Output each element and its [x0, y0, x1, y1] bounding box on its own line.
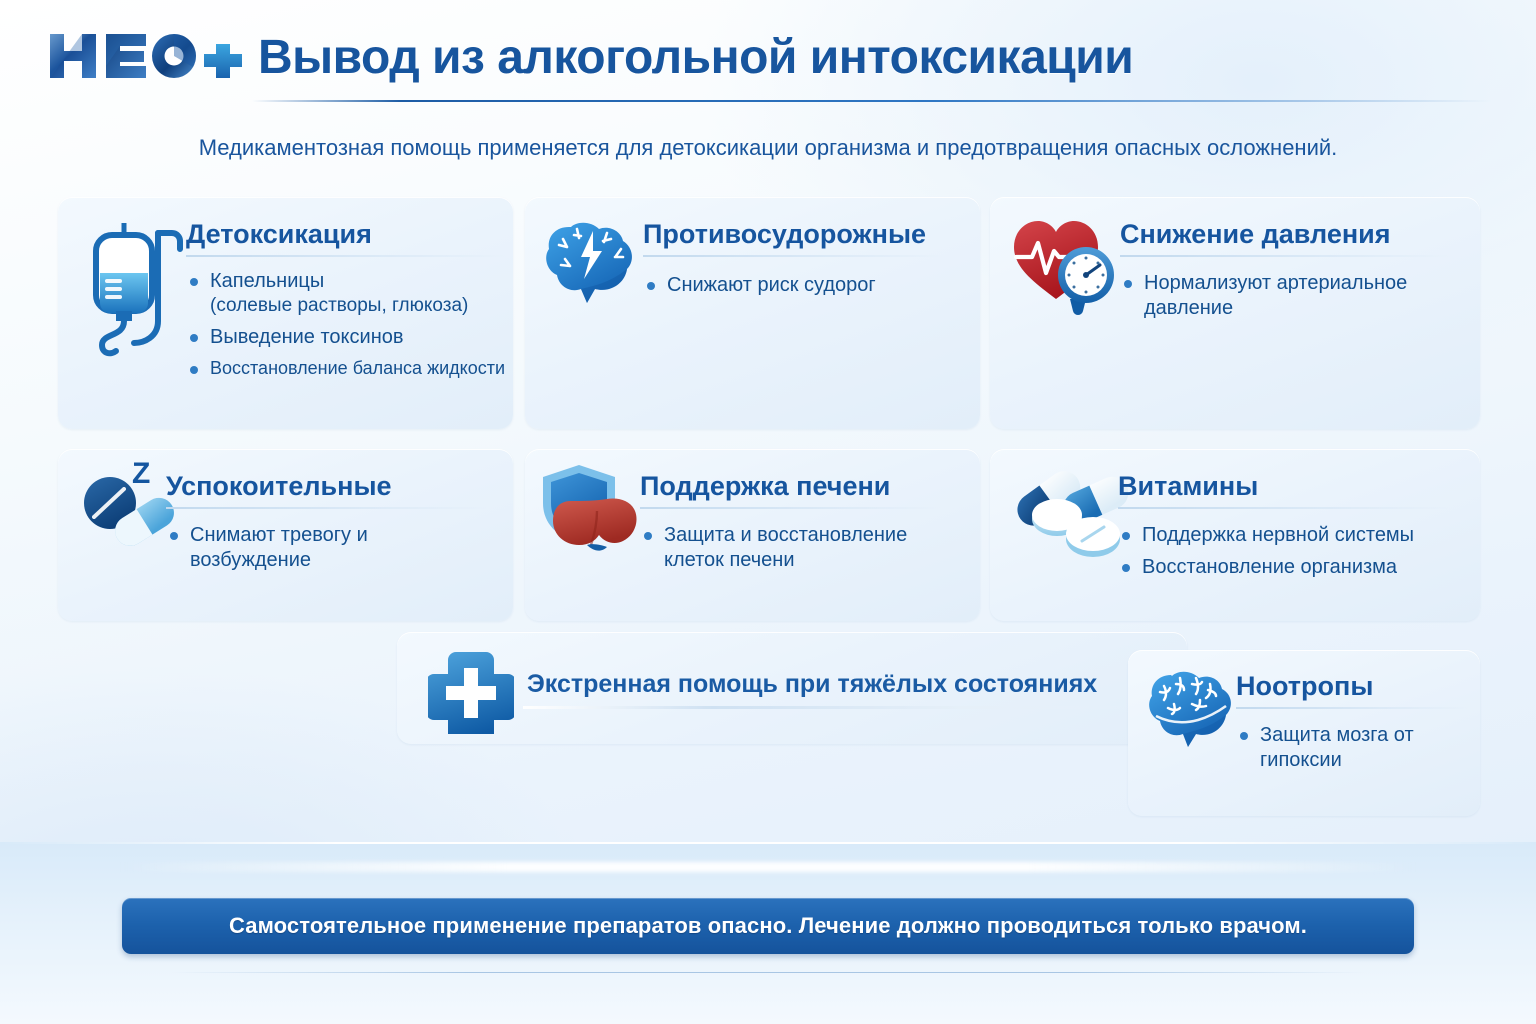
brain-lightning-icon — [543, 215, 639, 312]
shield-liver-icon — [539, 461, 649, 570]
card-bullet-list: Капельницы (солевые растворы, глюкоза) В… — [186, 269, 506, 379]
card-title-divider — [166, 507, 486, 509]
card-bullet-list: Защита мозга от гипоксии — [1236, 723, 1468, 773]
card-title: Ноотропы — [1236, 672, 1468, 700]
card-title-divider — [186, 255, 506, 257]
bullet-text: Капельницы — [210, 270, 324, 292]
card-anticonvulsants-body: Противосудорожные Снижают риск судорог — [643, 220, 953, 305]
card-bullet-list: Защита и восстановление клеток печени — [640, 523, 950, 573]
warning-text: Самостоятельное применение препаратов оп… — [229, 913, 1307, 939]
card-blood-pressure-body: Снижение давления Нормализуют артериальн… — [1120, 220, 1460, 328]
card-vitamins-body: Витамины Поддержка нервной системы Восст… — [1118, 472, 1458, 587]
warning-banner: Самостоятельное применение препаратов оп… — [122, 898, 1414, 954]
card-title: Витамины — [1118, 472, 1458, 500]
card-sedatives-body: Успокоительные Снимают тревогу и возбужд… — [166, 472, 486, 580]
card-nootropics-body: Ноотропы Защита мозга от гипоксии — [1236, 672, 1468, 780]
list-item: Защита мозга от гипоксии — [1236, 723, 1468, 773]
card-title-divider — [1120, 255, 1450, 257]
card-title-divider — [1118, 507, 1448, 509]
card-bullet-list: Нормализуют артериальное давление — [1120, 271, 1460, 321]
list-item: Капельницы (солевые растворы, глюкоза) — [186, 269, 506, 318]
emergency-divider — [523, 706, 1153, 709]
emergency-title: Экстренная помощь при тяжёлых состояниях — [527, 670, 1097, 699]
footer-hairline — [170, 972, 1366, 973]
card-title: Детоксикация — [186, 220, 506, 248]
list-item: Нормализуют артериальное давление — [1120, 271, 1460, 321]
iv-drip-icon — [80, 217, 190, 362]
list-item: Выведение токсинов — [186, 325, 506, 350]
heart-pressure-gauge-icon — [1008, 213, 1118, 322]
list-item: Снижают риск судорог — [643, 273, 953, 298]
card-title: Успокоительные — [166, 472, 486, 500]
neo-plus-logo — [48, 28, 248, 84]
card-title-divider — [640, 507, 940, 509]
card-title: Снижение давления — [1120, 220, 1460, 248]
list-item: Восстановление баланса жидкости — [186, 357, 506, 380]
card-title-divider — [643, 255, 943, 257]
brain-icon — [1146, 664, 1238, 757]
header: Вывод из алкогольной интоксикации — [0, 0, 1536, 110]
card-title: Поддержка печени — [640, 472, 950, 500]
card-detoxification-body: Детоксикация Капельницы (солевые раствор… — [186, 220, 506, 387]
svg-text:Z: Z — [132, 457, 150, 490]
list-item: Поддержка нервной системы — [1118, 523, 1458, 548]
pills-capsules-icon — [1000, 457, 1130, 572]
card-title-divider — [1236, 707, 1468, 709]
bullet-subtext: (солевые растворы, глюкоза) — [210, 294, 506, 318]
page-subtitle: Медикаментозная помощь применяется для д… — [0, 135, 1536, 161]
list-item: Защита и восстановление клеток печени — [640, 523, 950, 573]
list-item: Восстановление организма — [1118, 555, 1458, 580]
footer-sheen — [120, 862, 1416, 872]
page-title: Вывод из алкогольной интоксикации — [258, 30, 1133, 85]
infographic-page: Вывод из алкогольной интоксикации Медика… — [0, 0, 1536, 1024]
card-bullet-list: Снимают тревогу и возбуждение — [166, 523, 486, 573]
card-bullet-list: Снижают риск судорог — [643, 273, 953, 298]
title-divider — [252, 100, 1492, 102]
list-item: Снимают тревогу и возбуждение — [166, 523, 486, 573]
card-bullet-list: Поддержка нервной системы Восстановление… — [1118, 523, 1458, 580]
card-liver-support-body: Поддержка печени Защита и восстановление… — [640, 472, 950, 580]
neo-plus-logo-icon — [48, 28, 248, 84]
card-title: Противосудорожные — [643, 220, 953, 248]
medical-cross-icon — [428, 648, 514, 739]
